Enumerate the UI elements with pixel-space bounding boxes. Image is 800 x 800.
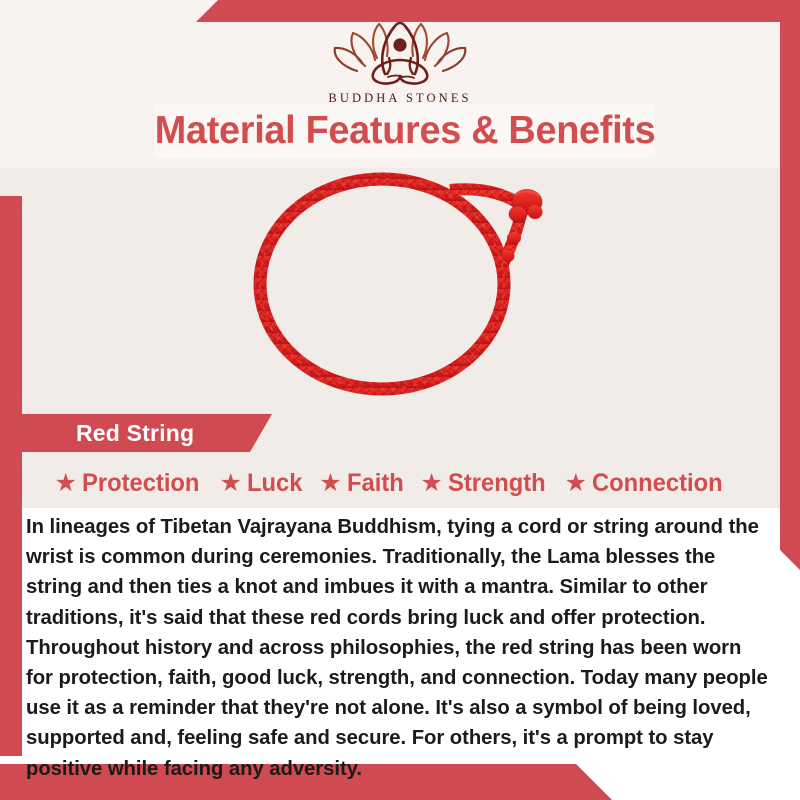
benefit-item-luck: ★ Luck (213, 469, 313, 498)
lotus-meditation-icon (325, 14, 475, 88)
star-icon: ★ (565, 471, 587, 496)
brand-logo: BUDDHA STONES (0, 14, 800, 106)
benefit-label: Connection (592, 469, 723, 498)
product-image (22, 168, 780, 408)
benefit-label: Strength (448, 469, 546, 498)
benefit-label: Luck (247, 469, 302, 498)
benefits-row: ★ Protection ★ Luck ★ Faith ★ Strength ★… (22, 460, 762, 506)
red-string-bracelet-illustration (22, 168, 780, 408)
benefit-item-strength: ★ Strength (413, 469, 557, 498)
benefit-item-faith: ★ Faith (312, 469, 413, 498)
star-icon: ★ (319, 471, 341, 496)
benefit-label: Protection (82, 469, 199, 498)
left-red-strip (0, 196, 22, 756)
page-title: Material Features & Benefits (155, 109, 656, 153)
star-icon: ★ (420, 471, 442, 496)
benefit-label: Faith (347, 469, 404, 498)
section-ribbon: Red String (22, 414, 272, 452)
material-features-poster: BUDDHA STONES Material Features & Benefi… (0, 0, 800, 800)
benefit-item-protection: ★ Protection (47, 469, 212, 498)
star-icon: ★ (54, 471, 76, 496)
description-paragraph: In lineages of Tibetan Vajrayana Buddhis… (26, 512, 768, 784)
section-ribbon-label: Red String (76, 420, 194, 447)
benefit-item-connection: ★ Connection (558, 469, 737, 498)
title-plate: Material Features & Benefits (155, 104, 655, 158)
star-icon: ★ (220, 471, 242, 496)
